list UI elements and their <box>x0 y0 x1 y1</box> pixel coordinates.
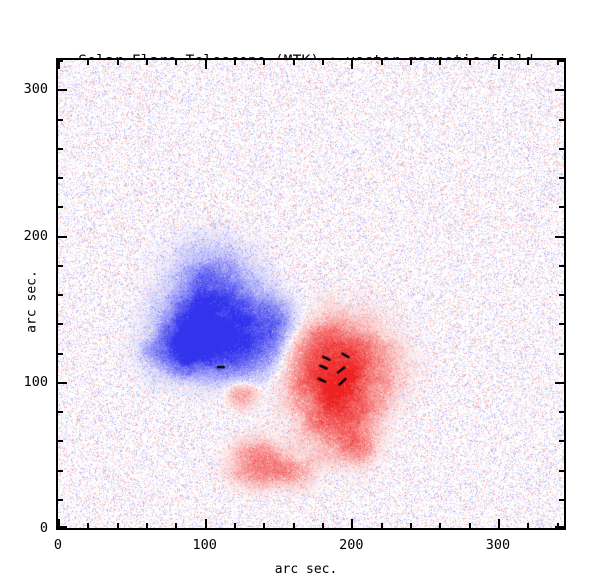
y-minor-tick <box>58 411 63 413</box>
x-major-tick-top <box>205 60 207 69</box>
y-major-tick <box>58 526 67 528</box>
y-minor-tick-right <box>559 411 564 413</box>
x-minor-tick <box>439 523 441 528</box>
y-minor-tick <box>58 265 63 267</box>
magnetogram-figure: Solar Flare Telescope (MTK) : vector mag… <box>0 0 612 585</box>
x-minor-tick <box>146 523 148 528</box>
y-tick-label: 0 <box>2 520 48 536</box>
y-minor-tick <box>58 353 63 355</box>
y-minor-tick <box>58 470 63 472</box>
y-minor-tick <box>58 206 63 208</box>
x-minor-tick <box>117 523 119 528</box>
x-axis-title: arc sec. <box>0 562 612 577</box>
y-major-tick-right <box>555 526 564 528</box>
x-minor-tick-top <box>234 60 236 65</box>
x-minor-tick <box>527 523 529 528</box>
x-minor-tick-top <box>527 60 529 65</box>
x-minor-tick-top <box>381 60 383 65</box>
x-minor-tick-top <box>263 60 265 65</box>
x-minor-tick <box>322 523 324 528</box>
x-major-tick-top <box>498 60 500 69</box>
y-major-tick <box>58 89 67 91</box>
x-tick-label: 200 <box>339 537 363 553</box>
x-major-tick <box>498 519 500 528</box>
x-minor-tick <box>410 523 412 528</box>
y-minor-tick-right <box>559 177 564 179</box>
y-minor-tick-right <box>559 60 564 62</box>
x-minor-tick <box>469 523 471 528</box>
x-minor-tick <box>87 523 89 528</box>
y-minor-tick <box>58 177 63 179</box>
y-minor-tick <box>58 148 63 150</box>
x-minor-tick-top <box>146 60 148 65</box>
magnetogram-image <box>58 60 564 528</box>
y-minor-tick <box>58 440 63 442</box>
y-major-tick-right <box>555 236 564 238</box>
y-minor-tick <box>58 499 63 501</box>
y-minor-tick <box>58 119 63 121</box>
y-major-tick <box>58 236 67 238</box>
y-minor-tick <box>58 294 63 296</box>
x-minor-tick-top <box>87 60 89 65</box>
y-minor-tick-right <box>559 470 564 472</box>
y-minor-tick <box>58 323 63 325</box>
x-tick-label: 0 <box>54 537 62 553</box>
x-minor-tick-top <box>117 60 119 65</box>
x-minor-tick-top <box>410 60 412 65</box>
x-minor-tick-top <box>293 60 295 65</box>
plot-frame <box>56 58 566 530</box>
y-major-tick-right <box>555 382 564 384</box>
y-major-tick-right <box>555 89 564 91</box>
y-minor-tick-right <box>559 323 564 325</box>
x-major-tick <box>205 519 207 528</box>
x-minor-tick-top <box>469 60 471 65</box>
y-minor-tick-right <box>559 294 564 296</box>
y-tick-label: 100 <box>2 374 48 390</box>
y-minor-tick-right <box>559 440 564 442</box>
y-minor-tick-right <box>559 206 564 208</box>
y-axis-title: arc sec. <box>25 242 40 362</box>
x-minor-tick-top <box>175 60 177 65</box>
x-minor-tick <box>293 523 295 528</box>
x-major-tick-top <box>351 60 353 69</box>
x-minor-tick <box>234 523 236 528</box>
y-minor-tick-right <box>559 265 564 267</box>
x-minor-tick-top <box>322 60 324 65</box>
x-major-tick <box>351 519 353 528</box>
x-minor-tick <box>263 523 265 528</box>
x-minor-tick <box>175 523 177 528</box>
y-minor-tick-right <box>559 353 564 355</box>
y-minor-tick-right <box>559 148 564 150</box>
y-minor-tick <box>58 60 63 62</box>
y-minor-tick-right <box>559 499 564 501</box>
y-major-tick <box>58 382 67 384</box>
x-tick-label: 100 <box>192 537 216 553</box>
y-tick-label: 300 <box>2 81 48 97</box>
y-minor-tick-right <box>559 119 564 121</box>
x-tick-label: 300 <box>486 537 510 553</box>
x-minor-tick <box>381 523 383 528</box>
x-minor-tick-top <box>439 60 441 65</box>
